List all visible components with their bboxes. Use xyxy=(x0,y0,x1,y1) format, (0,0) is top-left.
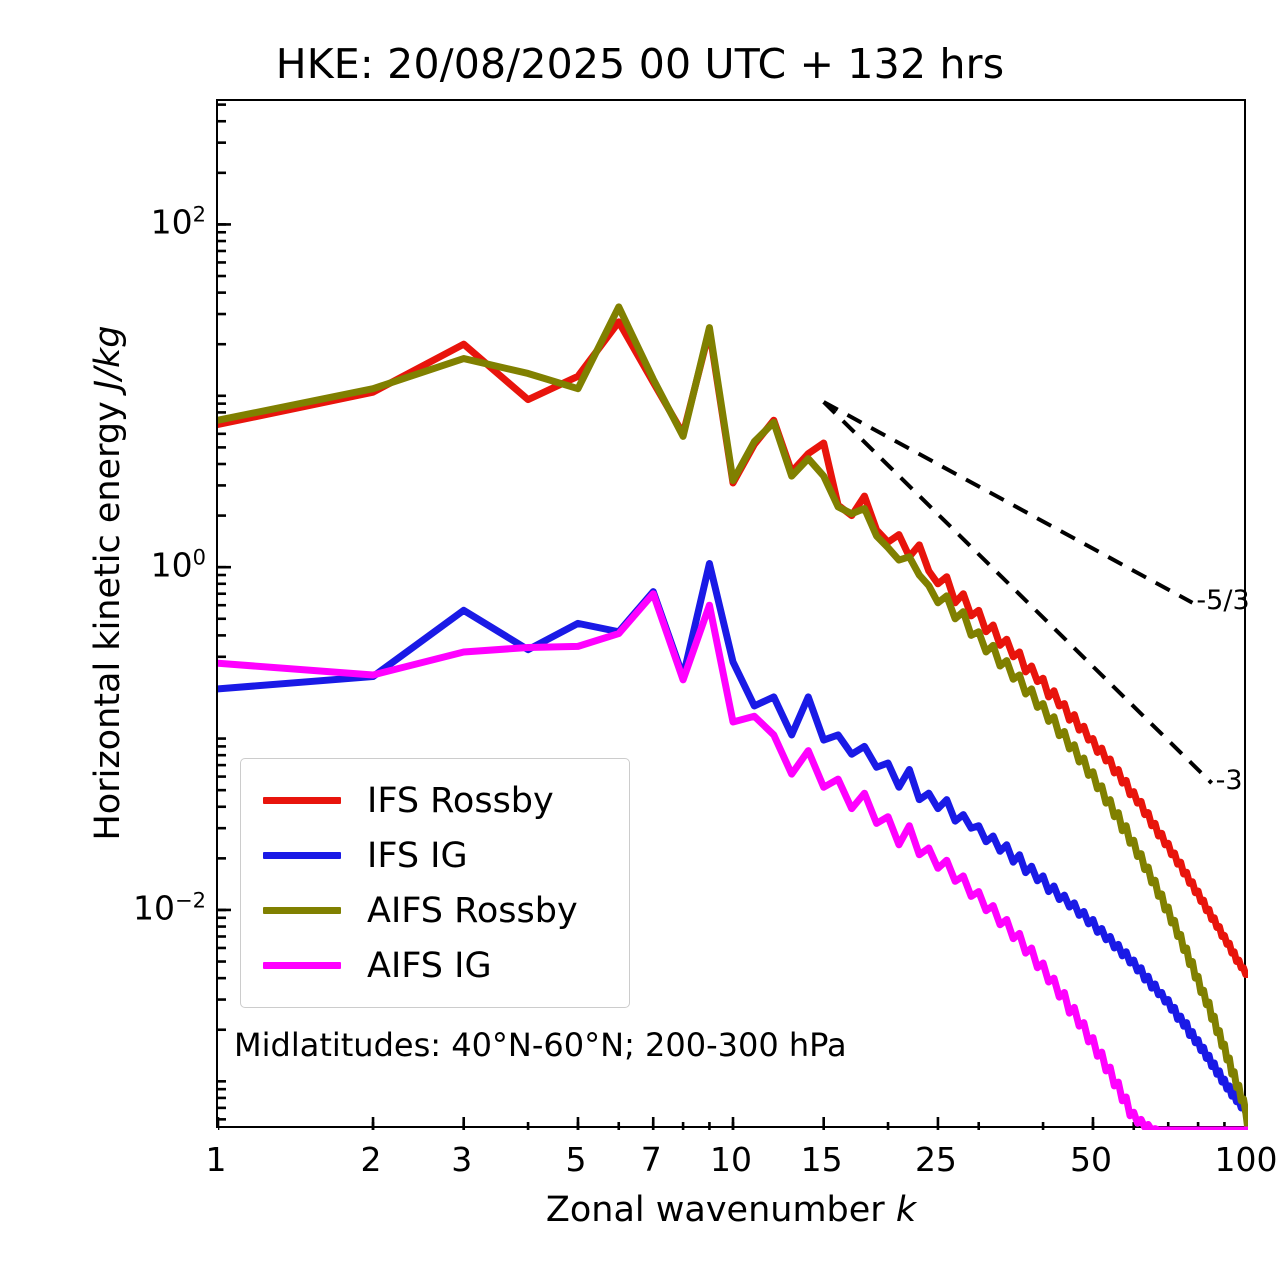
region-annotation: Midlatitudes: 40°N-60°N; 200-300 hPa xyxy=(234,1026,847,1064)
x-tick-label: 10 xyxy=(710,1140,752,1179)
legend-item-label: AIFS IG xyxy=(367,946,492,986)
x-tick-label: 50 xyxy=(1070,1140,1112,1179)
x-tick-label: 2 xyxy=(361,1140,382,1179)
x-axis-label-symbol: k xyxy=(896,1190,916,1230)
x-tick-label: 25 xyxy=(915,1140,957,1179)
legend-item[interactable]: IFS Rossby xyxy=(241,773,629,828)
reference-line-slope xyxy=(824,402,1212,783)
legend-item-label: IFS IG xyxy=(367,836,468,876)
y-tick-label: 10−2 xyxy=(128,888,206,927)
y-tick-label: 100 xyxy=(128,546,206,585)
legend-item-label: AIFS Rossby xyxy=(367,891,578,931)
legend-color-swatch xyxy=(263,797,341,804)
chart-title: HKE: 20/08/2025 00 UTC + 132 hrs xyxy=(0,40,1280,88)
y-tick-label-exponent: 2 xyxy=(193,203,206,227)
x-tick-label: 7 xyxy=(641,1140,662,1179)
x-tick-label: 1 xyxy=(206,1140,227,1179)
y-axis-label-text: Horizontal kinetic energy xyxy=(88,401,128,840)
x-tick-label: 100 xyxy=(1215,1140,1278,1179)
y-tick-label-exponent: −2 xyxy=(175,888,206,912)
y-tick-label-base: 10 xyxy=(151,546,193,585)
legend-color-swatch xyxy=(263,852,341,859)
legend-item[interactable]: IFS IG xyxy=(241,828,629,883)
slope-label: -5/3 xyxy=(1196,585,1249,616)
legend-item[interactable]: AIFS Rossby xyxy=(241,883,629,938)
x-axis-label-text: Zonal wavenumber xyxy=(546,1190,885,1230)
y-tick-label-base: 10 xyxy=(151,203,193,242)
chart-page: HKE: 20/08/2025 00 UTC + 132 hrs Horizon… xyxy=(0,0,1280,1288)
y-tick-label: 102 xyxy=(128,203,206,242)
x-tick-label: 5 xyxy=(565,1140,586,1179)
legend-item-label: IFS Rossby xyxy=(367,781,554,821)
y-tick-label-exponent: 0 xyxy=(193,546,206,570)
x-tick-label: 3 xyxy=(451,1140,472,1179)
slope-label: -3 xyxy=(1216,765,1243,796)
legend: IFS RossbyIFS IGAIFS RossbyAIFS IG xyxy=(240,758,630,1008)
reference-line-slope xyxy=(824,402,1193,603)
x-tick-label: 15 xyxy=(801,1140,843,1179)
y-tick-label-base: 10 xyxy=(133,888,175,927)
legend-color-swatch xyxy=(263,962,341,969)
y-axis-label-units: J/kg xyxy=(88,325,128,390)
reference-lines-group xyxy=(824,402,1212,783)
x-axis-label: Zonal wavenumber k xyxy=(216,1190,1246,1230)
legend-color-swatch xyxy=(263,907,341,914)
legend-rows: IFS RossbyIFS IGAIFS RossbyAIFS IG xyxy=(241,773,629,993)
legend-item[interactable]: AIFS IG xyxy=(241,938,629,993)
